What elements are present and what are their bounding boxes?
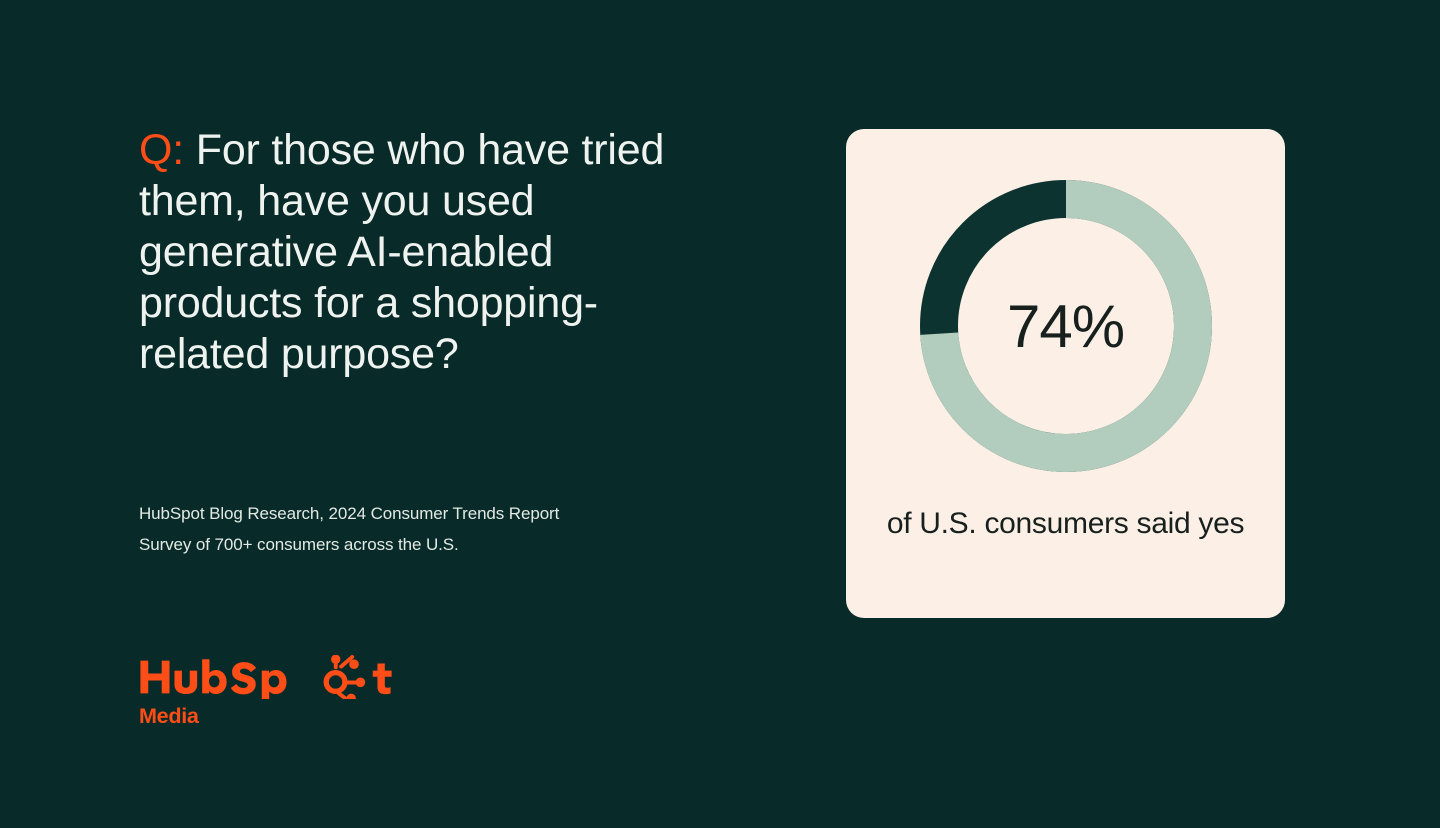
slide-canvas: Q: For those who have tried them, have y… [0, 0, 1440, 828]
question-text: For those who have tried them, have you … [139, 126, 664, 378]
donut-chart: 74% [920, 180, 1212, 472]
media-sublabel-icon: Media [139, 704, 259, 728]
stat-card-caption: of U.S. consumers said yes [846, 505, 1285, 542]
stat-card: 74% of U.S. consumers said yes [846, 129, 1285, 618]
source-attribution: HubSpot Blog Research, 2024 Consumer Tre… [139, 499, 589, 560]
donut-chart-svg [920, 180, 1212, 472]
hubspot-media-logo: Media [139, 655, 379, 728]
question-block: Q: For those who have tried them, have y… [139, 125, 739, 380]
question-marker: Q: [139, 126, 184, 174]
hubspot-wordmark-icon [139, 655, 394, 699]
media-sublabel-text: Media [139, 704, 200, 728]
page-title: Q: For those who have tried them, have y… [139, 125, 699, 380]
hubspot-sprocket-icon [326, 655, 365, 699]
